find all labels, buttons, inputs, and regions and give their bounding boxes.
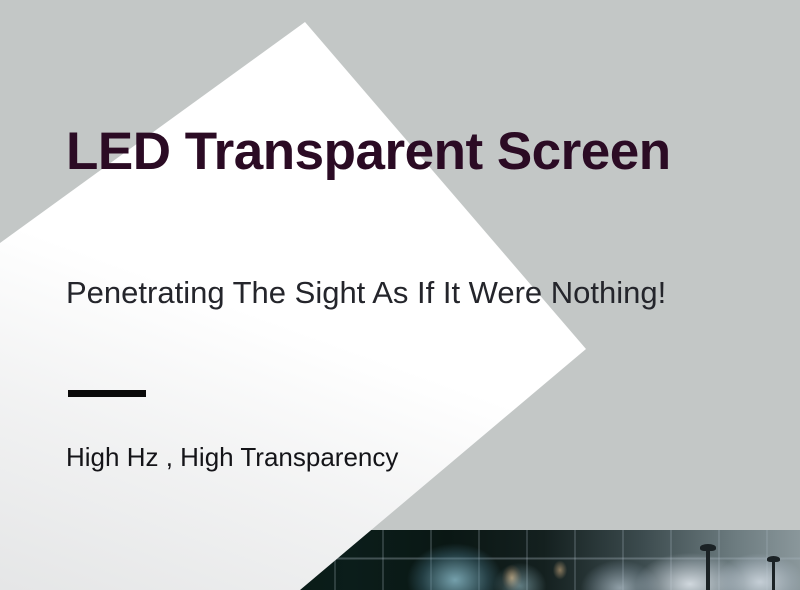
promo-banner: LED Transparent Screen Penetrating The S… bbox=[0, 0, 800, 590]
divider bbox=[68, 390, 146, 397]
tagline: High Hz , High Transparency bbox=[66, 440, 398, 474]
subtitle: Penetrating The Sight As If It Were Noth… bbox=[66, 273, 666, 313]
banner-content: LED Transparent Screen Penetrating The S… bbox=[0, 0, 800, 590]
page-title: LED Transparent Screen bbox=[66, 122, 671, 182]
